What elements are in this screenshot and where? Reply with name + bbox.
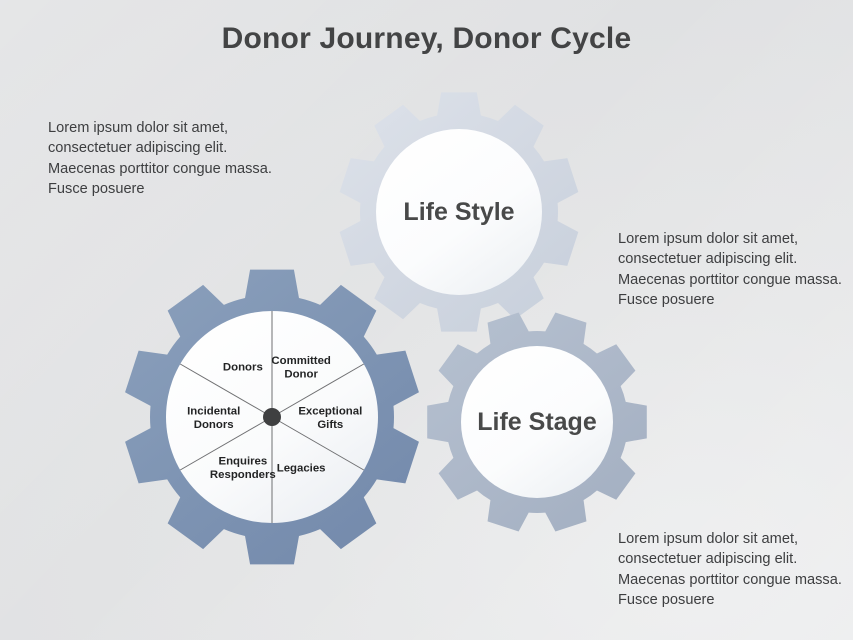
gear-life-stage-label: Life Stage xyxy=(477,408,597,436)
gear-life-style-label: Life Style xyxy=(403,198,514,226)
gear-donor-cycle[interactable]: DonorsCommittedDonorExceptionalGiftsLega… xyxy=(125,270,419,565)
gear-life-stage[interactable]: Life Stage xyxy=(427,313,647,532)
segment-label-donors: Donors xyxy=(223,362,263,374)
segment-label-incidental-donors: IncidentalDonors xyxy=(187,405,240,431)
segment-label-legacies: Legacies xyxy=(277,462,326,474)
gear-life-style[interactable]: Life Style xyxy=(340,92,579,331)
gear-diagram: Life Style Life Stage DonorsCommittedDon… xyxy=(0,0,853,640)
slide-canvas: Donor Journey, Donor Cycle Lorem ipsum d… xyxy=(0,0,853,640)
segment-label-enquires-responders: EnquiresResponders xyxy=(210,456,276,482)
gear-center-hub xyxy=(263,408,281,426)
